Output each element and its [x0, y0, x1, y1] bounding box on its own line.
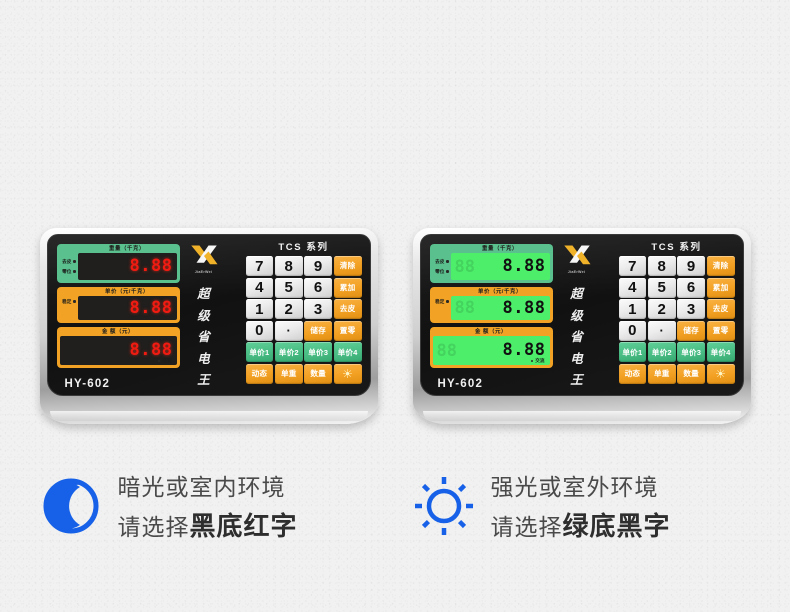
key-function-15[interactable]: 置零	[334, 321, 362, 341]
key-preset-price-19[interactable]: 单价4	[707, 342, 735, 362]
brand-logo-icon	[562, 243, 592, 269]
brand-column: JiaErWei超级省电王	[186, 243, 222, 388]
indicator-label: 零位	[62, 269, 71, 274]
caption-line-2: 请选择绿底黑字	[491, 506, 671, 543]
key-digit-2[interactable]: 2	[648, 299, 676, 319]
indicator-label: 稳定	[62, 299, 71, 304]
key-preset-price-16[interactable]: 单价1	[619, 342, 647, 362]
indicator-dot-icon	[73, 300, 75, 302]
panel-indicators-price: 稳定	[433, 296, 451, 320]
lcd-value-weight: 8.88	[130, 258, 173, 275]
slogan-char-2: 省	[570, 326, 583, 345]
panel-body-amount: 888.88交流	[433, 336, 550, 365]
indicator-dot-icon	[446, 270, 448, 272]
sun-icon	[413, 475, 475, 537]
display-panel-amount: 金 额（元）888.88交流	[430, 327, 553, 368]
key-digit-6[interactable]: 6	[304, 278, 332, 298]
key-function-11[interactable]: 去皮	[707, 299, 735, 319]
indicator-price-0: 稳定	[60, 299, 76, 304]
panel-label-weight: 重量（千克）	[60, 246, 177, 253]
key-digit-0[interactable]: 0	[246, 321, 274, 341]
display-panels: 重量（千克）去皮零位8.88单价（元/千克）稳定8.88金 额（元）8.88交流	[57, 244, 180, 372]
key-function-14[interactable]: 储存	[677, 321, 705, 341]
device-row: 重量（千克）去皮零位8.88单价（元/千克）稳定8.88金 额（元）8.88交流…	[0, 228, 790, 424]
slogan-char-4: 王	[197, 369, 210, 388]
key-preset-price-17[interactable]: 单价2	[275, 342, 303, 362]
key-backlight-button[interactable]: ☀	[707, 364, 735, 384]
key-digit-3[interactable]: 3	[304, 299, 332, 319]
moon-icon	[40, 475, 102, 537]
lightbulb-icon: ☀	[715, 368, 726, 380]
key-function-22[interactable]: 数量	[677, 364, 705, 384]
key-function-21[interactable]: 单重	[275, 364, 303, 384]
caption-indoor: 暗光或室内环境请选择黑底红字	[40, 468, 378, 543]
device-shell: 重量（千克）去皮零位8.88单价（元/千克）稳定8.88金 额（元）8.88交流…	[40, 228, 378, 424]
key-function-21[interactable]: 单重	[648, 364, 676, 384]
slogan-char-0: 超	[570, 283, 583, 302]
indicator-label: 零位	[435, 269, 444, 274]
indicator-price-0: 稳定	[433, 299, 449, 304]
slogan-char-0: 超	[197, 283, 210, 302]
device-slogan: 超级省电王	[570, 283, 583, 388]
panel-label-amount: 金 额（元）	[60, 329, 177, 336]
brand-column: JiaErWei超级省电王	[559, 243, 595, 388]
caption-line-2: 请选择黑底红字	[118, 506, 298, 543]
caption-row: 暗光或室内环境请选择黑底红字强光或室外环境请选择绿底黑字	[0, 468, 790, 543]
panel-body-weight: 去皮零位8.88	[60, 253, 177, 280]
ac-label: 交流	[535, 358, 544, 364]
indicator-weight-0: 去皮	[433, 259, 449, 264]
ac-dot-icon	[531, 360, 533, 362]
indicator-dot-icon	[446, 260, 448, 262]
panel-body-price: 稳定8.88	[60, 296, 177, 320]
key-function-3[interactable]: 清除	[707, 256, 735, 276]
ac-dot-icon	[158, 360, 160, 362]
key-digit-8[interactable]: 8	[648, 256, 676, 276]
key-preset-price-18[interactable]: 单价3	[677, 342, 705, 362]
key-digit-1[interactable]: 1	[246, 299, 274, 319]
key-digit-4[interactable]: 4	[619, 278, 647, 298]
lcd-ghost-digits-amount: 88	[437, 341, 457, 361]
panel-label-price: 单价（元/千克）	[433, 289, 550, 296]
caption-line-1: 强光或室外环境	[491, 468, 671, 502]
key-function-15[interactable]: 置零	[707, 321, 735, 341]
lcd-value-price: 8.88	[503, 300, 546, 317]
device-slogan: 超级省电王	[197, 283, 210, 388]
panel-label-amount: 金 额（元）	[433, 329, 550, 336]
lcd-ghost-digits-price: 88	[455, 298, 475, 318]
key-function-3[interactable]: 清除	[334, 256, 362, 276]
key-digit-3[interactable]: 3	[677, 299, 705, 319]
lcd-ghost-digits-weight: 88	[455, 257, 475, 277]
slogan-char-2: 省	[197, 326, 210, 345]
lcd-screen-amount: 8.88交流	[60, 336, 177, 365]
device-face: 重量（千克）去皮零位888.88单价（元/千克）稳定888.88金 额（元）88…	[420, 234, 744, 396]
panel-body-weight: 去皮零位888.88	[433, 253, 550, 280]
brand-name: JiaErWei	[568, 270, 586, 274]
key-digit-9[interactable]: 9	[677, 256, 705, 276]
lcd-screen-amount: 888.88交流	[433, 336, 550, 365]
key-digit-5[interactable]: 5	[275, 278, 303, 298]
indicator-label: 去皮	[62, 259, 71, 264]
key-digit-8[interactable]: 8	[275, 256, 303, 276]
caption-prefix: 请选择	[118, 514, 190, 540]
lcd-value-price: 8.88	[130, 300, 173, 317]
key-preset-price-18[interactable]: 单价3	[304, 342, 332, 362]
brand-logo-icon	[189, 243, 219, 269]
display-panels: 重量（千克）去皮零位888.88单价（元/千克）稳定888.88金 额（元）88…	[430, 244, 553, 372]
lightbulb-icon: ☀	[342, 368, 353, 380]
key-function-22[interactable]: 数量	[304, 364, 332, 384]
slogan-char-1: 级	[197, 305, 210, 324]
key-digit-7[interactable]: 7	[619, 256, 647, 276]
scale-device-dark-red: 重量（千克）去皮零位8.88单价（元/千克）稳定8.88金 额（元）8.88交流…	[40, 228, 378, 424]
device-face: 重量（千克）去皮零位8.88单价（元/千克）稳定8.88金 额（元）8.88交流…	[47, 234, 371, 396]
key-digit-4[interactable]: 4	[246, 278, 274, 298]
panel-indicators-weight: 去皮零位	[433, 253, 451, 280]
ac-label: 交流	[162, 358, 171, 364]
panel-label-price: 单价（元/千克）	[60, 289, 177, 296]
indicator-label: 去皮	[435, 259, 444, 264]
key-decimal-point[interactable]: ·	[275, 321, 303, 341]
caption-emphasis: 黑底红字	[190, 511, 298, 541]
slogan-char-4: 王	[570, 369, 583, 388]
key-digit-7[interactable]: 7	[246, 256, 274, 276]
device-model-label: HY-602	[438, 378, 484, 390]
keypad: TCS 系列789清除456累加123去皮0·储存置零单价1单价2单价3单价4动…	[246, 242, 362, 384]
key-function-20[interactable]: 动态	[246, 364, 274, 384]
key-backlight-button[interactable]: ☀	[334, 364, 362, 384]
key-digit-5[interactable]: 5	[648, 278, 676, 298]
brand-name: JiaErWei	[195, 270, 213, 274]
keypad: TCS 系列789清除456累加123去皮0·储存置零单价1单价2单价3单价4动…	[619, 242, 735, 384]
lcd-value-amount: 8.88	[130, 342, 173, 359]
slogan-char-3: 电	[570, 348, 583, 367]
key-function-7[interactable]: 累加	[707, 278, 735, 298]
display-panel-price: 单价（元/千克）稳定888.88	[430, 287, 553, 323]
key-function-14[interactable]: 储存	[304, 321, 332, 341]
panel-indicators-price: 稳定	[60, 296, 78, 320]
key-digit-6[interactable]: 6	[677, 278, 705, 298]
key-digit-2[interactable]: 2	[275, 299, 303, 319]
key-function-20[interactable]: 动态	[619, 364, 647, 384]
caption-line-1: 暗光或室内环境	[118, 468, 298, 502]
slogan-char-3: 电	[197, 348, 210, 367]
display-panel-weight: 重量（千克）去皮零位8.88	[57, 244, 180, 283]
lcd-screen-weight: 888.88	[451, 253, 550, 280]
keypad-grid: 789清除456累加123去皮0·储存置零单价1单价2单价3单价4动态单重数量☀	[246, 256, 362, 384]
key-digit-9[interactable]: 9	[304, 256, 332, 276]
panel-label-weight: 重量（千克）	[433, 246, 550, 253]
keypad-grid: 789清除456累加123去皮0·储存置零单价1单价2单价3单价4动态单重数量☀	[619, 256, 735, 384]
device-model-label: HY-602	[65, 378, 111, 390]
key-digit-1[interactable]: 1	[619, 299, 647, 319]
key-decimal-point[interactable]: ·	[648, 321, 676, 341]
indicator-weight-1: 零位	[433, 269, 449, 274]
lcd-value-weight: 8.88	[503, 258, 546, 275]
key-preset-price-17[interactable]: 单价2	[648, 342, 676, 362]
indicator-label: 稳定	[435, 299, 444, 304]
caption-text: 暗光或室内环境请选择黑底红字	[118, 468, 298, 543]
ac-indicator: 交流	[531, 358, 544, 364]
keypad-title: TCS 系列	[619, 242, 735, 253]
scale-device-green-black: 重量（千克）去皮零位888.88单价（元/千克）稳定888.88金 额（元）88…	[413, 228, 751, 424]
page-root: 不同屏幕 适应不同环境 ADAPTIVE ENVIRONMENT SCREEN …	[0, 0, 790, 612]
indicator-dot-icon	[73, 270, 75, 272]
key-digit-0[interactable]: 0	[619, 321, 647, 341]
lcd-screen-price: 8.88	[78, 296, 177, 320]
caption-emphasis: 绿底黑字	[563, 511, 671, 541]
device-shell: 重量（千克）去皮零位888.88单价（元/千克）稳定888.88金 额（元）88…	[413, 228, 751, 424]
caption-prefix: 请选择	[491, 514, 563, 540]
lcd-value-amount: 8.88	[503, 342, 546, 359]
lcd-screen-price: 888.88	[451, 296, 550, 320]
display-panel-amount: 金 额（元）8.88交流	[57, 327, 180, 368]
display-panel-weight: 重量（千克）去皮零位888.88	[430, 244, 553, 283]
indicator-weight-0: 去皮	[60, 259, 76, 264]
key-function-7[interactable]: 累加	[334, 278, 362, 298]
indicator-dot-icon	[446, 300, 448, 302]
caption-text: 强光或室外环境请选择绿底黑字	[491, 468, 671, 543]
indicator-dot-icon	[73, 260, 75, 262]
caption-outdoor: 强光或室外环境请选择绿底黑字	[413, 468, 751, 543]
indicator-weight-1: 零位	[60, 269, 76, 274]
key-preset-price-19[interactable]: 单价4	[334, 342, 362, 362]
panel-body-amount: 8.88交流	[60, 336, 177, 365]
panel-indicators-weight: 去皮零位	[60, 253, 78, 280]
keypad-title: TCS 系列	[246, 242, 362, 253]
display-panel-price: 单价（元/千克）稳定8.88	[57, 287, 180, 323]
lcd-screen-weight: 8.88	[78, 253, 177, 280]
panel-body-price: 稳定888.88	[433, 296, 550, 320]
key-function-11[interactable]: 去皮	[334, 299, 362, 319]
ac-indicator: 交流	[158, 358, 171, 364]
key-preset-price-16[interactable]: 单价1	[246, 342, 274, 362]
slogan-char-1: 级	[570, 305, 583, 324]
